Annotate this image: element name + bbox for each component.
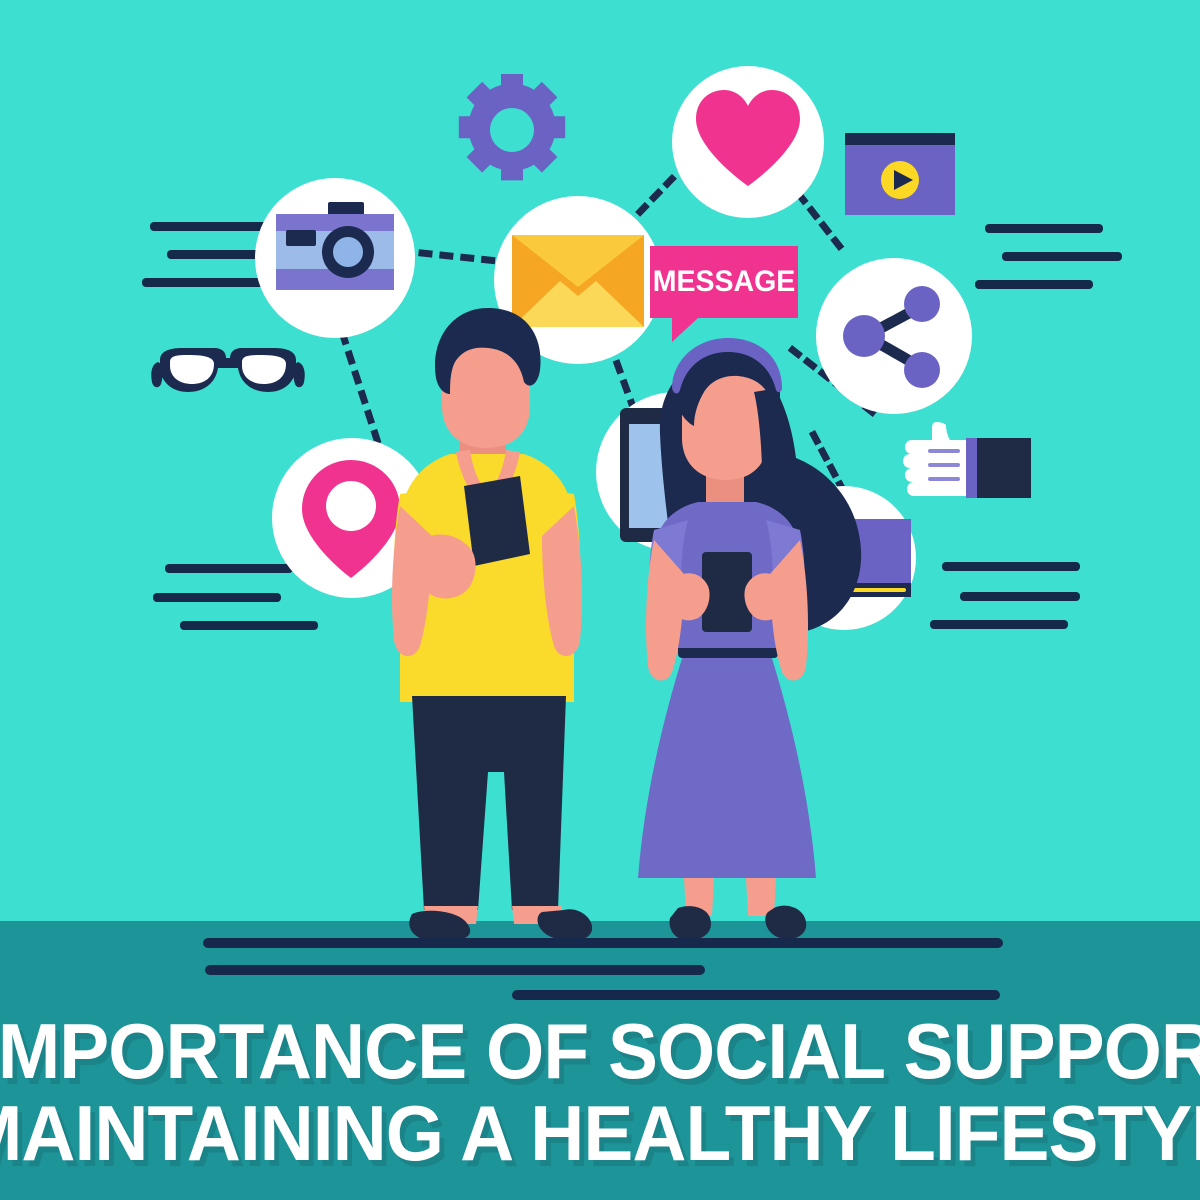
speed-line xyxy=(165,564,293,573)
title-line-1: IMPORTANCE OF SOCIAL SUPPORT xyxy=(0,1006,1200,1097)
speed-line xyxy=(960,592,1080,601)
camera-icon xyxy=(276,200,394,306)
gear-icon xyxy=(452,70,572,190)
title-banner: IMPORTANCE OF SOCIAL SUPPORT MAINTAINING… xyxy=(0,1000,1200,1200)
video-player-window-icon xyxy=(845,133,955,215)
speed-line xyxy=(1002,252,1122,261)
glasses-icon xyxy=(148,332,308,412)
speed-line xyxy=(975,280,1093,289)
message-bubble-label: MESSAGE xyxy=(654,246,795,318)
thumbs-up-icon xyxy=(902,422,1032,504)
speed-line xyxy=(180,621,318,630)
woman-with-phone xyxy=(610,330,900,950)
speed-line xyxy=(930,620,1068,629)
ground-line xyxy=(203,938,1003,948)
speed-line xyxy=(942,562,1080,571)
ground-line xyxy=(205,965,705,975)
speed-line xyxy=(150,222,270,231)
speed-line xyxy=(153,593,281,602)
heart-icon xyxy=(694,88,802,188)
ground-line xyxy=(512,990,1000,1000)
title-line-2: MAINTAINING A HEALTHY LIFESTYLE xyxy=(0,1088,1200,1179)
man-with-phone xyxy=(378,302,598,940)
speed-line xyxy=(985,224,1103,233)
illustration-canvas: MESSAGE xyxy=(0,0,1200,1200)
